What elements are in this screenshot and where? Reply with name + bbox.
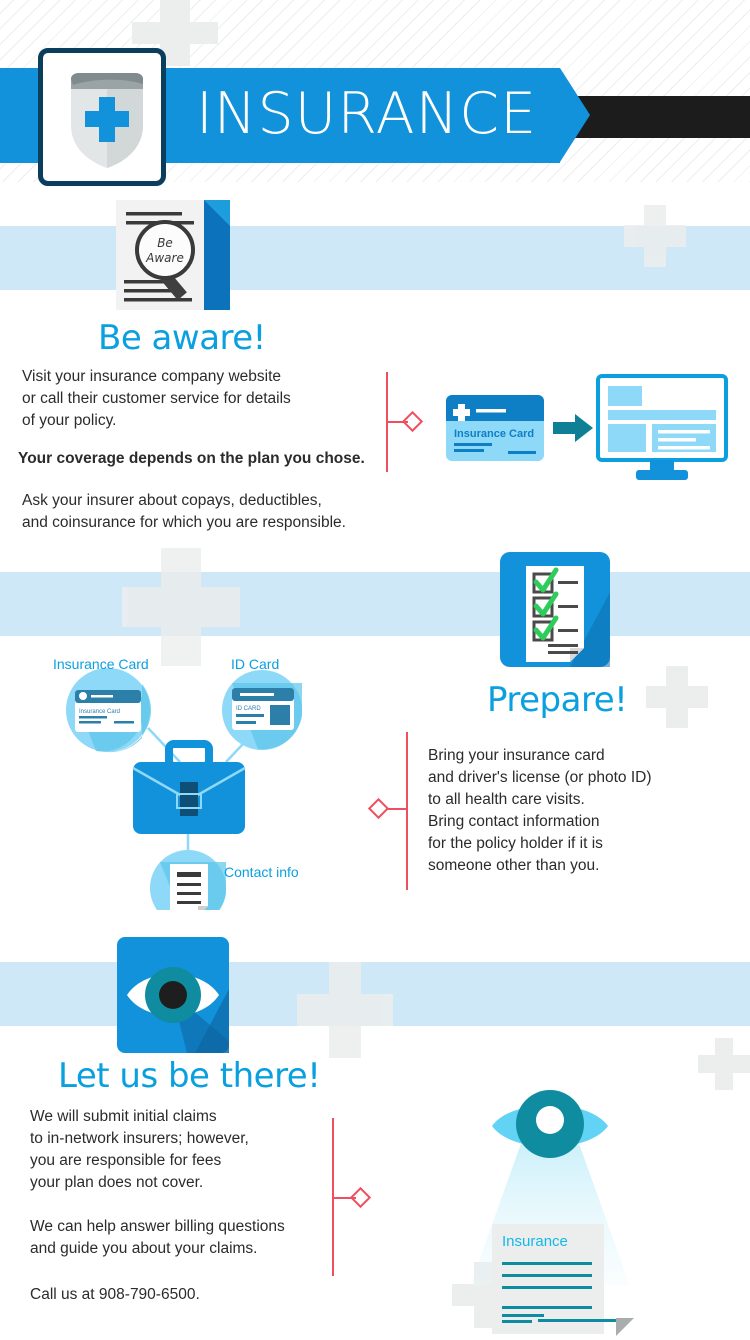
- magnifier-label-line1: Be: [157, 236, 173, 250]
- svg-text:ID CARD: ID CARD: [236, 706, 261, 712]
- section-heading-be-aware: Be aware!: [98, 318, 266, 358]
- node-label-insurance-card: Insurance Card: [53, 656, 149, 672]
- shield-medical-cross-icon: [65, 69, 149, 171]
- be-aware-paragraph-bold: Your coverage depends on the plan you ch…: [18, 448, 365, 470]
- insurance-card-label: Insurance Card: [454, 428, 534, 440]
- background-cross-icon: [698, 1038, 750, 1090]
- header-banner-arrow: [560, 68, 590, 162]
- shield-badge: [38, 48, 166, 186]
- background-cross-icon: [122, 548, 240, 666]
- id-card-circle-icon: ID CARD: [222, 670, 302, 750]
- node-label-contact-info: Contact info: [224, 864, 299, 880]
- node-label-id-card: ID Card: [231, 656, 279, 672]
- background-band-2: [0, 572, 750, 636]
- magnifier-label-line2: Aware: [145, 251, 184, 265]
- let-us-be-there-paragraph-1: We will submit initial claims to in-netw…: [30, 1106, 249, 1194]
- let-us-be-there-paragraph-2: We can help answer billing questions and…: [30, 1216, 285, 1260]
- briefcase-icon: [133, 744, 245, 834]
- insurance-card-circle-icon: Insurance Card: [66, 668, 151, 752]
- section-heading-let-us-be-there: Let us be there!: [58, 1056, 320, 1096]
- arrow-right-icon: [553, 412, 593, 449]
- desktop-monitor-icon: [596, 374, 728, 487]
- insurance-document-title: Insurance: [502, 1233, 568, 1250]
- page-title: INSURANCE: [196, 78, 537, 150]
- document-magnifier-icon: Be Aware: [110, 196, 232, 321]
- eye-icon: [117, 937, 229, 1058]
- background-cross-icon: [297, 962, 393, 1058]
- document-circle-icon: [150, 850, 226, 910]
- connector-let-us-be-there: [332, 1118, 376, 1276]
- connector-be-aware: [386, 372, 426, 472]
- checklist-clipboard-icon: [500, 552, 610, 672]
- briefcase-diagram: Insurance Card ID CARD: [30, 650, 350, 915]
- connector-prepare: [368, 732, 414, 890]
- background-cross-icon: [646, 666, 708, 728]
- insurance-card-icon: Insurance Card: [446, 395, 544, 466]
- be-aware-paragraph-3: Ask your insurer about copays, deductibl…: [22, 490, 346, 534]
- svg-text:Insurance Card: Insurance Card: [79, 709, 120, 715]
- let-us-be-there-paragraph-3: Call us at 908-790-6500.: [30, 1284, 200, 1306]
- be-aware-paragraph-1: Visit your insurance company website or …: [22, 366, 291, 432]
- background-cross-icon: [624, 205, 686, 267]
- eye-beam-icon: Insurance: [420, 1086, 680, 1340]
- infographic-page: INSURANCE Be Aware: [0, 0, 750, 1340]
- section-heading-prepare: Prepare!: [487, 680, 627, 720]
- prepare-paragraph-1: Bring your insurance card and driver's l…: [428, 745, 652, 877]
